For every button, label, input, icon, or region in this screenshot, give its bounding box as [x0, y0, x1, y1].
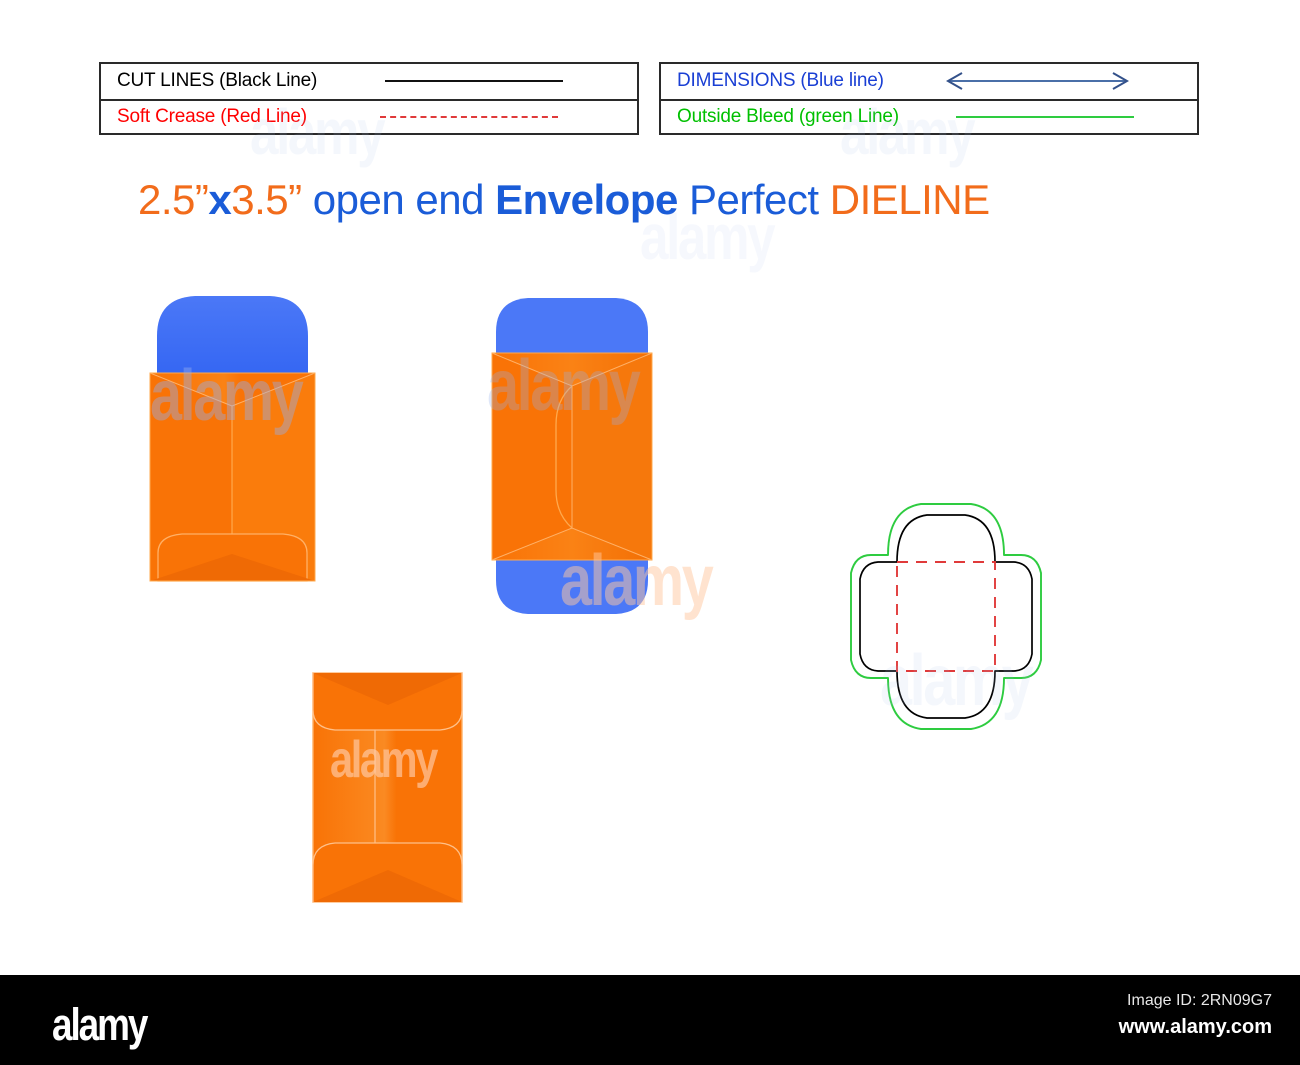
alamy-watermark-band: alamy Image ID: 2RN09G7 www.alamy.com: [0, 970, 1300, 1065]
artwork-canvas: alamy alamy alamy alamy alamy alamy alam…: [0, 0, 1300, 965]
watermark-overlay-text-7: alamy: [840, 95, 973, 169]
dieline-flat-layout: [825, 475, 1055, 755]
envelope-open-rotated: [482, 290, 662, 625]
alamy-logo: alamy: [52, 999, 146, 1051]
image-id-label: Image ID: 2RN09G7: [1127, 992, 1272, 1010]
watermark-overlay-text-6: alamy: [250, 95, 383, 169]
alamy-url-label: www.alamy.com: [1119, 1016, 1272, 1039]
envelope-front-closed-with-blue-flap: [140, 288, 325, 588]
envelope-front-orange: [305, 665, 470, 910]
watermark-overlay-text-8: alamy: [640, 200, 773, 274]
